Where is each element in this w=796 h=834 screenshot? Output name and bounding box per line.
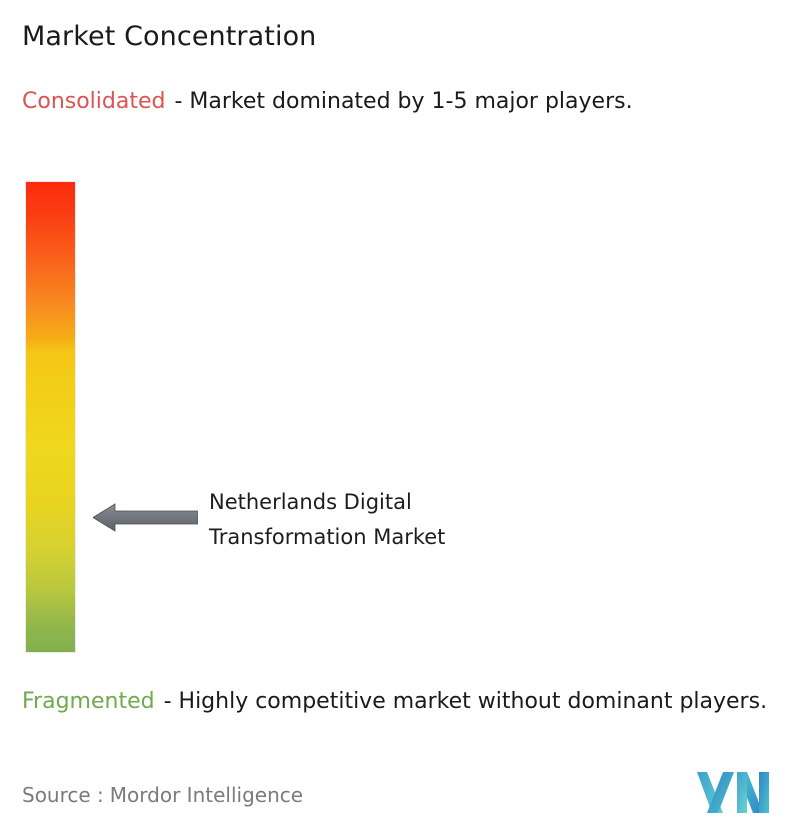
legend-description-consolidated: - Market dominated by 1-5 major players. xyxy=(174,89,632,114)
concentration-gradient-bar xyxy=(26,182,75,652)
legend-description-fragmented: - Highly competitive market without domi… xyxy=(164,689,767,714)
marker-label-line-2: Transformation Market xyxy=(209,520,609,555)
source-note: Source :Mordor Intelligence xyxy=(22,782,303,808)
mordor-intelligence-logo-icon xyxy=(697,770,769,815)
source-value: Mordor Intelligence xyxy=(110,783,303,807)
source-label: Source : xyxy=(22,783,104,807)
market-concentration-infographic: Market Concentration Consolidated- Marke… xyxy=(0,0,796,834)
legend-label-consolidated: Consolidated xyxy=(22,89,165,114)
marker-label: Netherlands Digital Transformation Marke… xyxy=(209,485,609,555)
page-title: Market Concentration xyxy=(22,20,316,54)
caption-fragmented: Fragmented- Highly competitive market wi… xyxy=(22,686,784,717)
marker-arrow-icon xyxy=(93,501,198,534)
legend-label-fragmented: Fragmented xyxy=(22,689,155,714)
marker-label-line-1: Netherlands Digital xyxy=(209,485,609,520)
caption-consolidated: Consolidated- Market dominated by 1-5 ma… xyxy=(22,86,774,117)
